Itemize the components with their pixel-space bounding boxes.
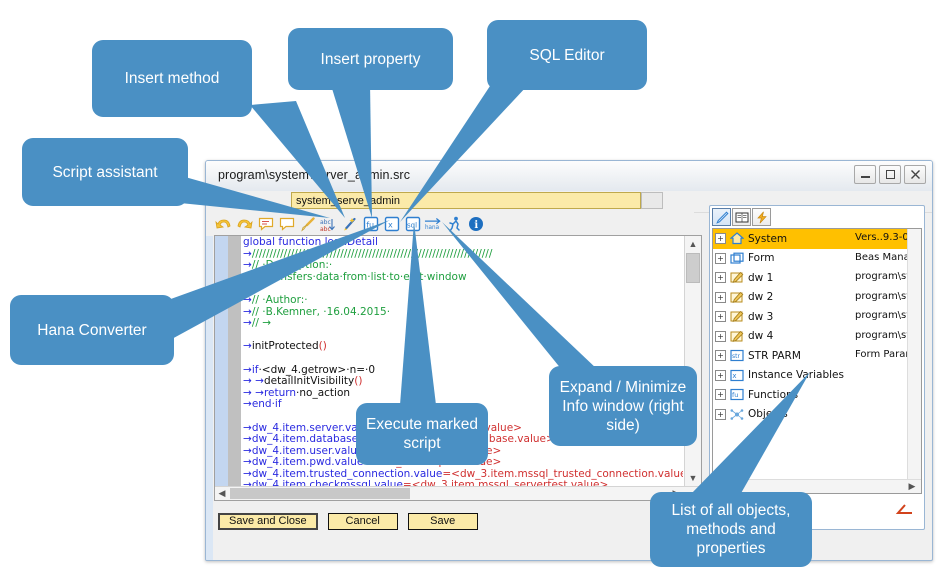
tail-expand-minimize-info — [442, 222, 598, 370]
callout-expand-minimize-info: Expand / Minimize Info window (right sid… — [549, 366, 697, 446]
tail-script-assistant — [178, 175, 330, 218]
callout-insert-method: Insert method — [92, 40, 252, 117]
callout-hana-converter: Hana Converter — [10, 295, 174, 365]
callout-script-assistant: Script assistant — [22, 138, 188, 206]
callout-list-of-all-objects: List of all objects, methods and propert… — [650, 492, 812, 567]
tail-hana-converter — [168, 220, 390, 340]
tail-sql-editor — [400, 86, 527, 222]
tail-execute-marked-script — [400, 222, 436, 405]
tail-list-of-all-objects — [690, 372, 810, 495]
callout-insert-property: Insert property — [288, 28, 453, 90]
callout-execute-marked-script: Execute marked script — [356, 403, 488, 465]
callout-sql-editor: SQL Editor — [487, 20, 647, 90]
